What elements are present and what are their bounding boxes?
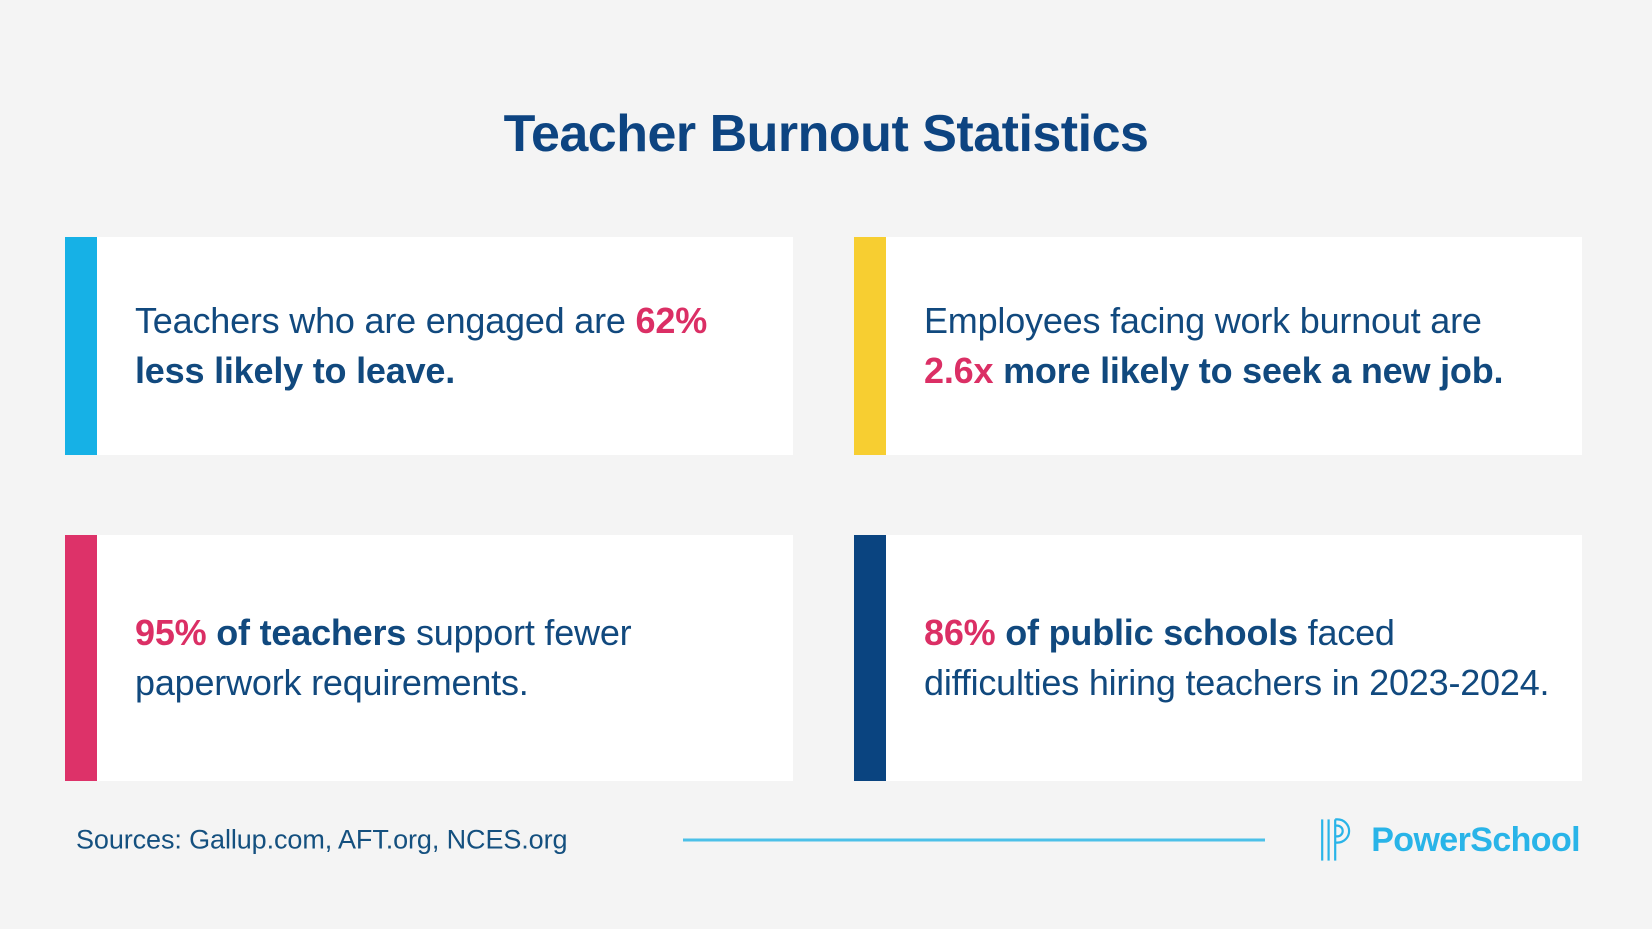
stat-card-body: 95% of teachers support fewer paperwork … — [97, 535, 793, 781]
stat-card-body: 86% of public schools faced difficulties… — [886, 535, 1582, 781]
stat-card-text: Employees facing work burnout are 2.6x m… — [924, 296, 1556, 395]
stat-card-text: 86% of public schools faced difficulties… — [924, 608, 1556, 707]
stat-value: 86% — [924, 612, 995, 653]
stat-card-text: 95% of teachers support fewer paperwork … — [135, 608, 767, 707]
accent-bar-yellow — [854, 237, 886, 455]
stat-card-text: Teachers who are engaged are 62% less li… — [135, 296, 767, 395]
stat-value: 62% — [636, 300, 707, 341]
stat-card-paperwork-requirements: 95% of teachers support fewer paperwork … — [65, 535, 793, 781]
stat-value: 2.6x — [924, 350, 993, 391]
stat-card-grid: Teachers who are engaged are 62% less li… — [65, 237, 1582, 781]
footer-divider — [683, 839, 1265, 842]
stat-card-engaged-teachers: Teachers who are engaged are 62% less li… — [65, 237, 793, 455]
sources-text: Sources: Gallup.com, AFT.org, NCES.org — [76, 825, 567, 856]
stat-card-hiring-difficulties: 86% of public schools faced difficulties… — [854, 535, 1582, 781]
stat-card-body: Employees facing work burnout are 2.6x m… — [886, 237, 1582, 455]
accent-bar-pink — [65, 535, 97, 781]
accent-bar-navy — [854, 535, 886, 781]
stat-text-lead: Teachers who are engaged are — [135, 300, 636, 341]
stat-text-emphasis: of public schools — [995, 612, 1297, 653]
stat-card-work-burnout: Employees facing work burnout are 2.6x m… — [854, 237, 1582, 455]
infographic-root: Teacher Burnout Statistics Teachers who … — [0, 0, 1652, 929]
powerschool-wordmark: PowerSchool — [1371, 823, 1580, 857]
stat-text-emphasis: more likely to seek a new job. — [993, 350, 1503, 391]
stat-text-emphasis: of teachers — [206, 612, 406, 653]
stat-value: 95% — [135, 612, 206, 653]
page-title: Teacher Burnout Statistics — [0, 105, 1652, 165]
footer: Sources: Gallup.com, AFT.org, NCES.org P… — [0, 790, 1652, 890]
stat-text-lead: Employees facing work burnout are — [924, 300, 1482, 341]
powerschool-p-icon — [1319, 817, 1361, 863]
stat-card-body: Teachers who are engaged are 62% less li… — [97, 237, 793, 455]
powerschool-logo: PowerSchool — [1319, 817, 1580, 863]
accent-bar-cyan — [65, 237, 97, 455]
stat-text-emphasis: less likely to leave. — [135, 350, 455, 391]
